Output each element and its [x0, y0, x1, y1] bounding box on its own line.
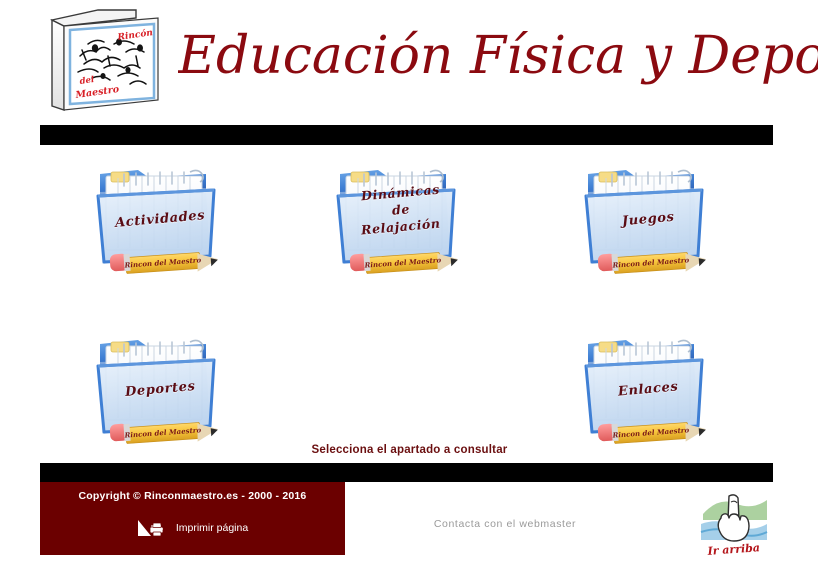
- page-footer: Copyright © Rinconmaestro.es - 2000 - 20…: [0, 482, 819, 585]
- go-to-top-label: Ir arriba: [706, 541, 760, 558]
- folder-logo-icon: Rincón del Maestro: [40, 4, 175, 116]
- folder-grid: Rincon del Maestro Rincon del Maestro Ac…: [0, 148, 819, 458]
- folder-icon: Rincon del Maestro: [566, 322, 731, 457]
- instruction-text: Selecciona el apartado a consultar: [0, 444, 819, 456]
- page-title-text: Educación Física y Deporte: [178, 26, 818, 86]
- print-page-button[interactable]: Imprimir página: [40, 518, 345, 538]
- printer-icon: [137, 518, 171, 538]
- header-divider-bar: [40, 125, 773, 145]
- folder-item-dinamicas-de-relajacion[interactable]: Rincon del Maestro Dinámicas de Relajaci…: [318, 152, 483, 287]
- folder-item-enlaces[interactable]: Rincon del Maestro Enlaces: [566, 322, 731, 457]
- folder-icon: Rincon del Maestro Rincon del Maestro: [78, 152, 243, 287]
- folder-item-deportes[interactable]: Rincon del Maestro Deportes: [78, 322, 243, 457]
- print-page-label: Imprimir página: [176, 522, 248, 534]
- go-to-top-button[interactable]: Ir arriba: [697, 488, 771, 558]
- site-logo[interactable]: Rincón del Maestro: [40, 4, 175, 116]
- folder-icon: Rincon del Maestro: [318, 152, 483, 287]
- contact-webmaster-link[interactable]: Contacta con el webmaster: [345, 518, 665, 530]
- page-header: Rincón del Maestro Educación Física y De…: [0, 0, 819, 125]
- logo-text-line2: del: [79, 75, 96, 87]
- pointing-hand-up-icon: Ir arriba: [697, 488, 771, 558]
- folder-item-juegos[interactable]: Rincon del Maestro Juegos: [566, 152, 731, 287]
- copyright-box: Copyright © Rinconmaestro.es - 2000 - 20…: [40, 482, 345, 555]
- page-root: Rincón del Maestro Educación Física y De…: [0, 0, 819, 585]
- copyright-text: Copyright © Rinconmaestro.es - 2000 - 20…: [40, 490, 345, 502]
- folder-icon: Rincon del Maestro: [78, 322, 243, 457]
- page-title: Educación Física y Deporte: [178, 18, 818, 98]
- folder-item-actividades[interactable]: Rincon del Maestro Rincon del Maestro Ac…: [78, 152, 243, 287]
- footer-divider-bar: [40, 463, 773, 482]
- folder-icon: Rincon del Maestro: [566, 152, 731, 287]
